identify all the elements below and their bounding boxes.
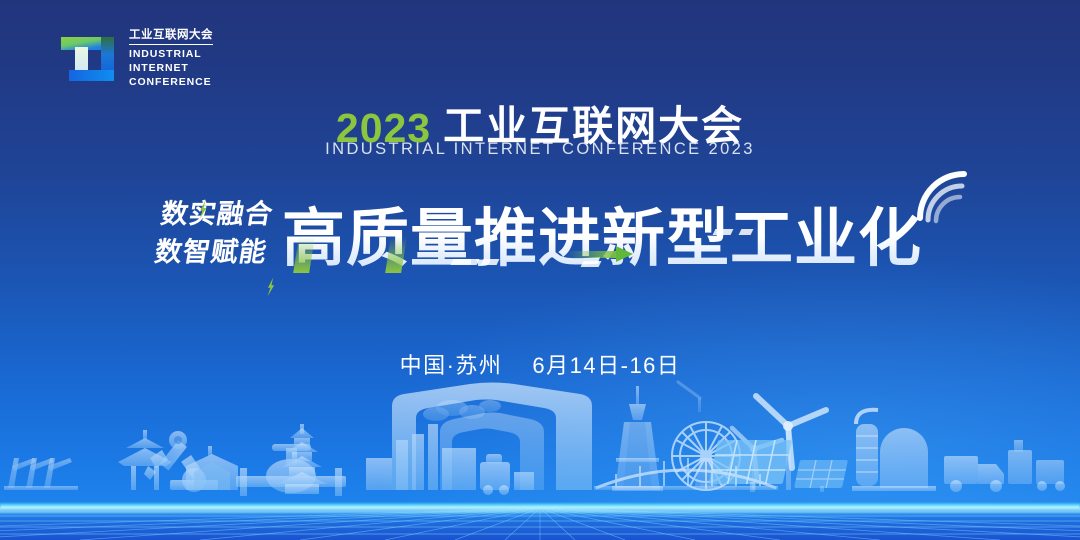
logo-en-line2: INTERNET	[129, 62, 213, 76]
slogan-secondary: 数实融合 数智赋能	[152, 195, 276, 272]
wind-turbine	[756, 396, 826, 490]
arch-bridge	[594, 458, 778, 490]
logo-en-line1: INDUSTRIAL	[129, 48, 213, 62]
title-subtitle-en: INDUSTRIAL INTERNET CONFERENCE 2023	[0, 140, 1080, 159]
slogan-main-wrap: 高质量推进新型工业化	[282, 188, 922, 279]
pagoda	[277, 424, 327, 494]
tv-tower	[612, 386, 663, 491]
logo-mark-icon	[56, 28, 118, 90]
logo-wordmark: 工业互联网大会 INDUSTRIAL INTERNET CONFERENCE	[129, 28, 213, 90]
slogan-block: 数实融合 数智赋能 高质量推进新型工业化	[0, 178, 1080, 288]
slogan-main: 高质量推进新型工业化	[282, 204, 922, 274]
solar-panel	[700, 440, 792, 492]
slogan-small-line1-text: 数实融合	[159, 199, 276, 229]
event-location: 中国·苏州	[400, 353, 503, 378]
floor-sheen	[0, 508, 1080, 515]
wind-turbine	[678, 382, 701, 412]
pipe-valve	[236, 444, 346, 496]
ferris-wheel	[672, 422, 740, 490]
event-dates: 6月14日-16日	[532, 353, 680, 378]
lightning-bolt-icon	[265, 277, 277, 296]
wind-turbine	[732, 428, 782, 490]
gate-of-the-orient	[392, 383, 592, 491]
conference-logo[interactable]: 工业互联网大会 INDUSTRIAL INTERNET CONFERENCE	[56, 28, 213, 90]
event-meta: 中国·苏州6月14日-16日	[0, 348, 1080, 380]
cargo-trucks	[944, 440, 1065, 492]
conference-poster: 工业互联网大会 INDUSTRIAL INTERNET CONFERENCE 2…	[0, 0, 1080, 540]
chinese-pavilion	[118, 430, 172, 490]
exhibition-hall	[186, 446, 238, 490]
slogan-small-line2: 数智赋能	[152, 233, 270, 271]
slogan-small-line2-text: 数智赋能	[153, 237, 270, 267]
logo-cn-name: 工业互联网大会	[129, 28, 213, 45]
robot-arm	[144, 431, 218, 492]
solar-panel	[794, 460, 848, 492]
factory-smokestacks	[366, 400, 534, 495]
city-skyline-illustration	[0, 362, 1080, 512]
oil-pumpjacks	[4, 458, 78, 490]
storage-tanks	[852, 410, 936, 491]
slogan-small-line1: 数实融合	[158, 195, 276, 233]
logo-en-line3: CONFERENCE	[129, 76, 213, 90]
